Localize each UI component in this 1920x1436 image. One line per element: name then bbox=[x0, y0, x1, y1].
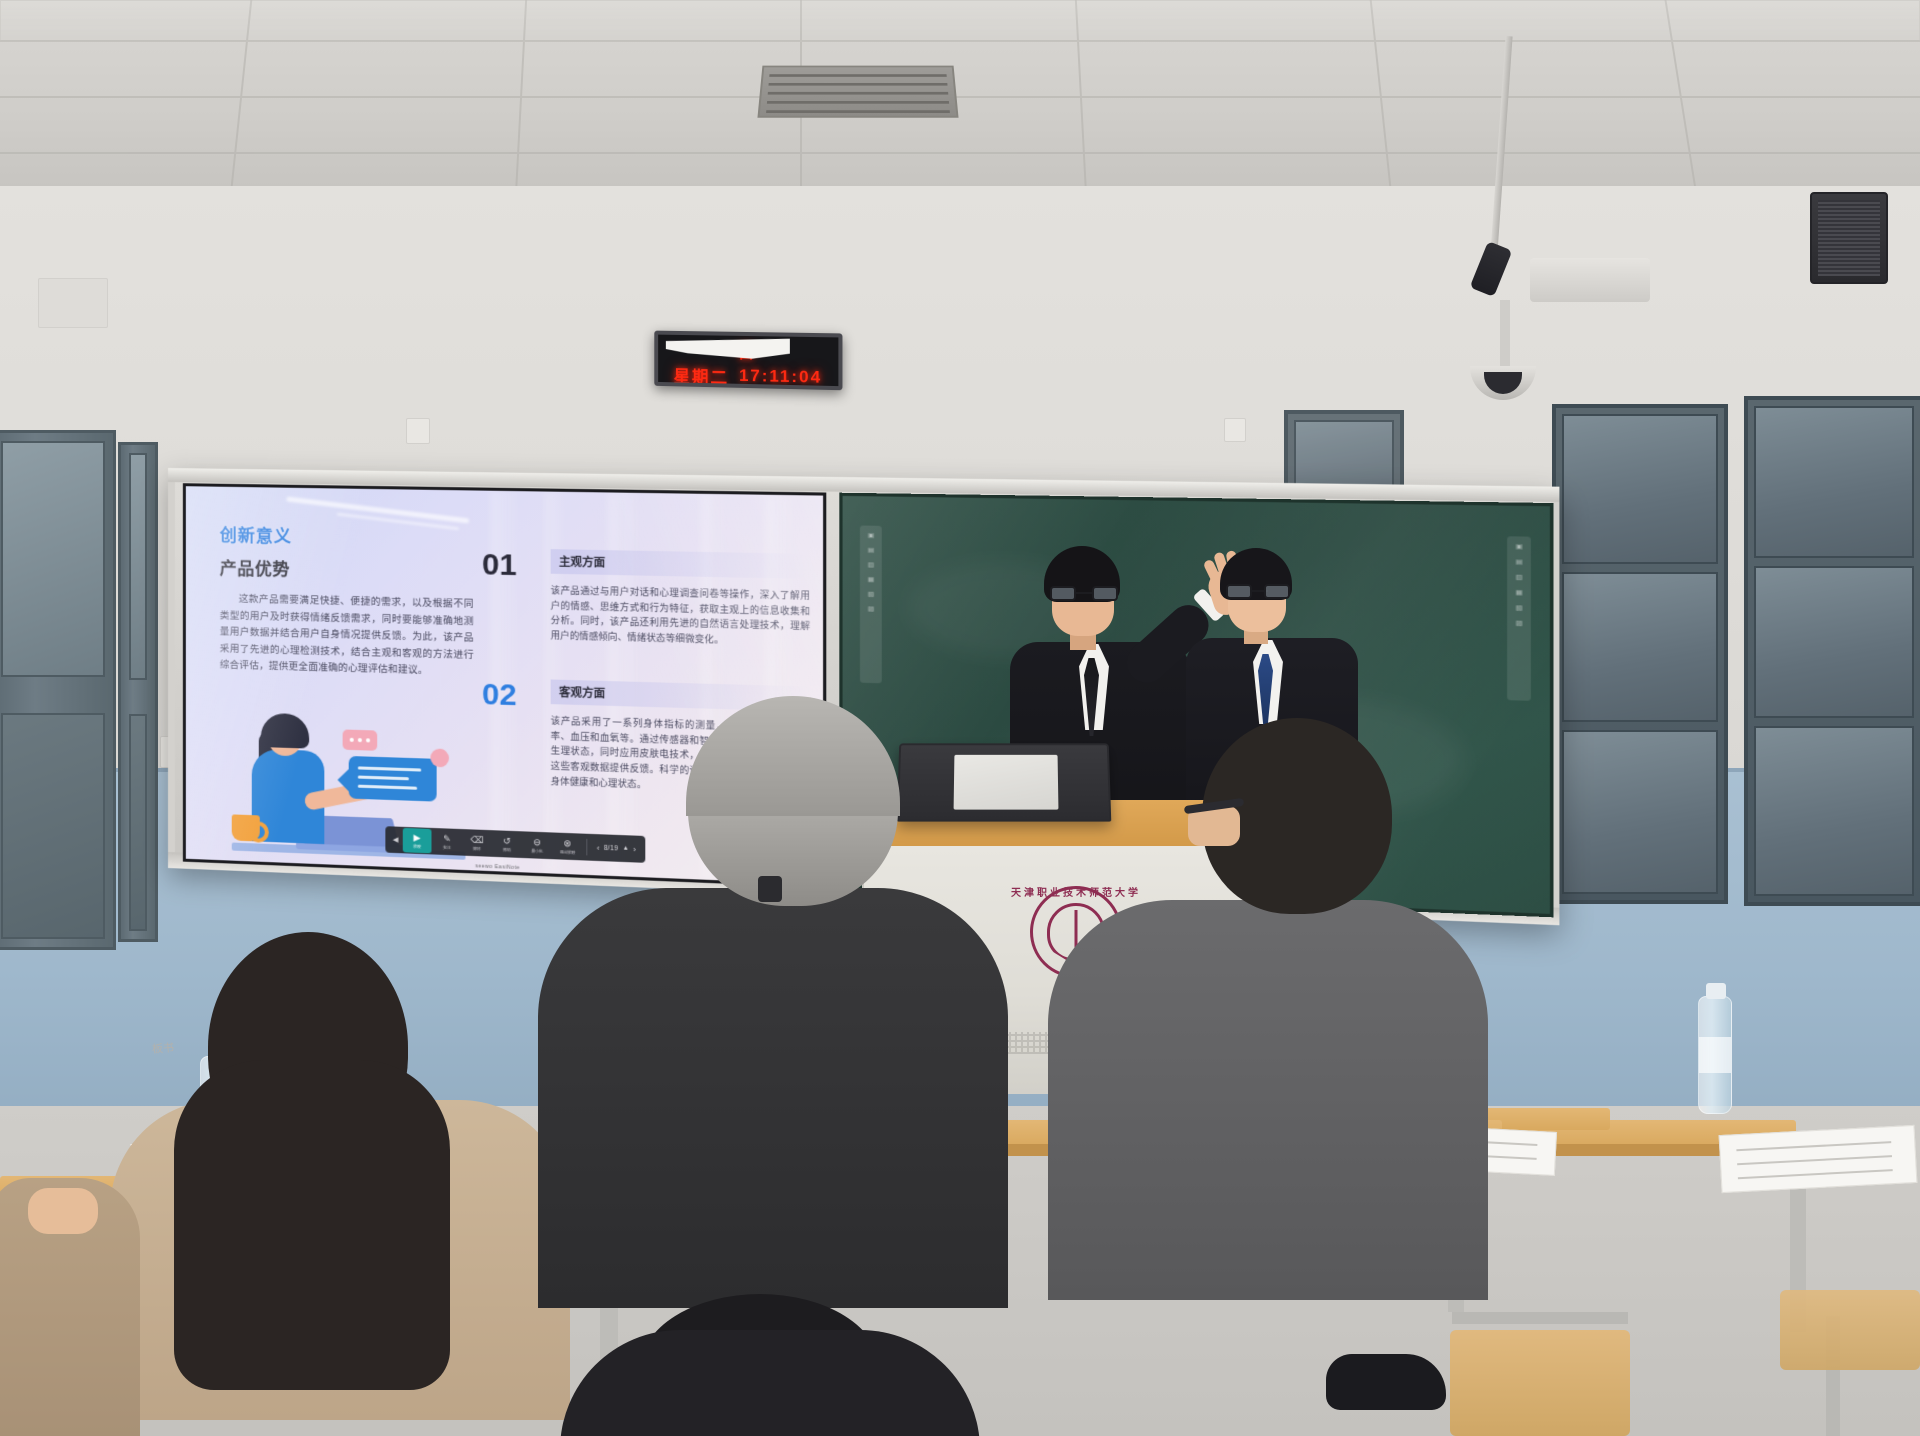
classroom-scene: 板书 日 星期二 17:11:04 bbox=[0, 0, 1920, 1436]
play-icon: ▶ bbox=[414, 833, 421, 842]
window-right-2 bbox=[1744, 396, 1920, 906]
monitor-screen[interactable] bbox=[954, 755, 1059, 810]
classroom-door-left[interactable] bbox=[0, 430, 116, 950]
wall-scribble: 板书 bbox=[151, 1039, 174, 1056]
bottle-label bbox=[1699, 1037, 1731, 1073]
led-weekday: 星期二 bbox=[674, 362, 730, 388]
projector-housing bbox=[1530, 258, 1650, 302]
led-time-row: 星期二 17:11:04 bbox=[658, 361, 838, 390]
erase-button[interactable]: ⌫ 擦除 bbox=[462, 830, 491, 856]
section-number: 01 bbox=[482, 548, 536, 582]
door-window bbox=[129, 453, 147, 680]
ceiling bbox=[0, 0, 1920, 196]
glasses-icon bbox=[1226, 584, 1290, 598]
minimize-button-label: 最小化 bbox=[531, 848, 543, 853]
podium-monitor[interactable] bbox=[897, 743, 1112, 821]
minus-circle-icon: ⊖ bbox=[533, 837, 541, 847]
shoe bbox=[1326, 1354, 1446, 1410]
chalkboard-left-control-strip[interactable]: ▣▤▥ ▦▧▨ bbox=[860, 526, 882, 684]
classroom-door-left-2[interactable] bbox=[118, 442, 158, 942]
bottle-cap bbox=[1706, 983, 1726, 999]
paper-document[interactable] bbox=[1719, 1125, 1918, 1193]
wall-speaker bbox=[1810, 192, 1888, 284]
prev-slide-icon[interactable]: ‹ bbox=[597, 843, 600, 852]
wall-outlet[interactable] bbox=[406, 418, 430, 444]
illustration-coffee-cup-icon bbox=[232, 814, 260, 841]
audience-left-long-hair bbox=[174, 1060, 450, 1390]
audience-foreground-shoulders bbox=[560, 1330, 980, 1436]
toolbar-separator bbox=[586, 839, 587, 856]
wall-outlet[interactable] bbox=[1224, 418, 1246, 442]
pen-icon: ✎ bbox=[443, 834, 451, 843]
slide-list-caret-up-icon[interactable]: ▲ bbox=[623, 845, 629, 851]
audience-right-jacket bbox=[1048, 900, 1488, 1300]
led-time: 17:11:04 bbox=[739, 366, 822, 388]
ceiling-air-vent bbox=[757, 66, 958, 118]
annotate-button[interactable]: ✎ 批注 bbox=[433, 829, 462, 855]
exit-button-label: 退出放映 bbox=[560, 849, 575, 854]
toolbar-collapse-icon[interactable]: ◀ bbox=[389, 826, 401, 853]
audience-center-sweater bbox=[538, 888, 1008, 1308]
illustration-chat-bubble-icon bbox=[349, 756, 437, 802]
next-slide-icon[interactable]: › bbox=[633, 844, 636, 853]
door-panel bbox=[1, 713, 105, 939]
slide-paragraph: 这款产品需要满足快捷、便捷的需求，以及根据不同类型的用户及时获得情绪反馈需求，同… bbox=[220, 591, 474, 681]
illustration-typing-bubble-icon bbox=[343, 729, 378, 750]
slide-pager[interactable]: ‹ 8/19 ▲ › bbox=[592, 843, 642, 854]
glasses-icon bbox=[1050, 586, 1118, 601]
collar-tag bbox=[758, 876, 782, 902]
erase-button-label: 擦除 bbox=[473, 846, 481, 851]
chalkboard-right-control-strip[interactable]: ▣▤▥ ▦▧▨ bbox=[1507, 536, 1531, 701]
door-window bbox=[1, 441, 105, 677]
camera-mount bbox=[1500, 300, 1510, 374]
undo-button[interactable]: ↺ 撤销 bbox=[492, 831, 521, 857]
chair-backrest[interactable] bbox=[1450, 1330, 1630, 1436]
exit-button[interactable]: ⊗ 退出放映 bbox=[553, 834, 582, 860]
minimize-button[interactable]: ⊖ 最小化 bbox=[523, 832, 552, 858]
annotate-button-label: 批注 bbox=[443, 844, 451, 849]
slide-section-01: 01 主观方面 该产品通过与用户对话和心理调查问卷等操作，深入了解用户的情感、思… bbox=[482, 548, 810, 649]
page-indicator: 8/19 bbox=[604, 844, 619, 852]
ceiling-grid bbox=[0, 0, 1920, 196]
door-panel bbox=[129, 714, 147, 931]
chair-backrest[interactable] bbox=[1780, 1290, 1920, 1370]
section-number: 02 bbox=[482, 678, 536, 712]
close-circle-icon: ⊗ bbox=[563, 839, 571, 849]
section-text: 该产品通过与用户对话和心理调查问卷等操作，深入了解用户的情感、思维方式和行为特征… bbox=[551, 583, 810, 649]
window-right-1 bbox=[1552, 404, 1728, 904]
undo-icon: ↺ bbox=[503, 836, 511, 846]
audience-left-hand bbox=[28, 1188, 98, 1234]
chair-frame bbox=[1452, 1312, 1628, 1324]
eraser-icon: ⌫ bbox=[470, 835, 483, 845]
undo-button-label: 撤销 bbox=[503, 847, 511, 852]
led-clock-display: 日 星期二 17:11:04 bbox=[654, 331, 842, 391]
present-button[interactable]: ▶ 放映 bbox=[403, 828, 432, 854]
illustration-notification-badge bbox=[430, 748, 449, 767]
wall-access-panel bbox=[38, 278, 108, 328]
present-button-label: 放映 bbox=[413, 843, 421, 848]
section-heading: 主观方面 bbox=[551, 549, 810, 579]
water-bottle[interactable] bbox=[1698, 996, 1732, 1114]
